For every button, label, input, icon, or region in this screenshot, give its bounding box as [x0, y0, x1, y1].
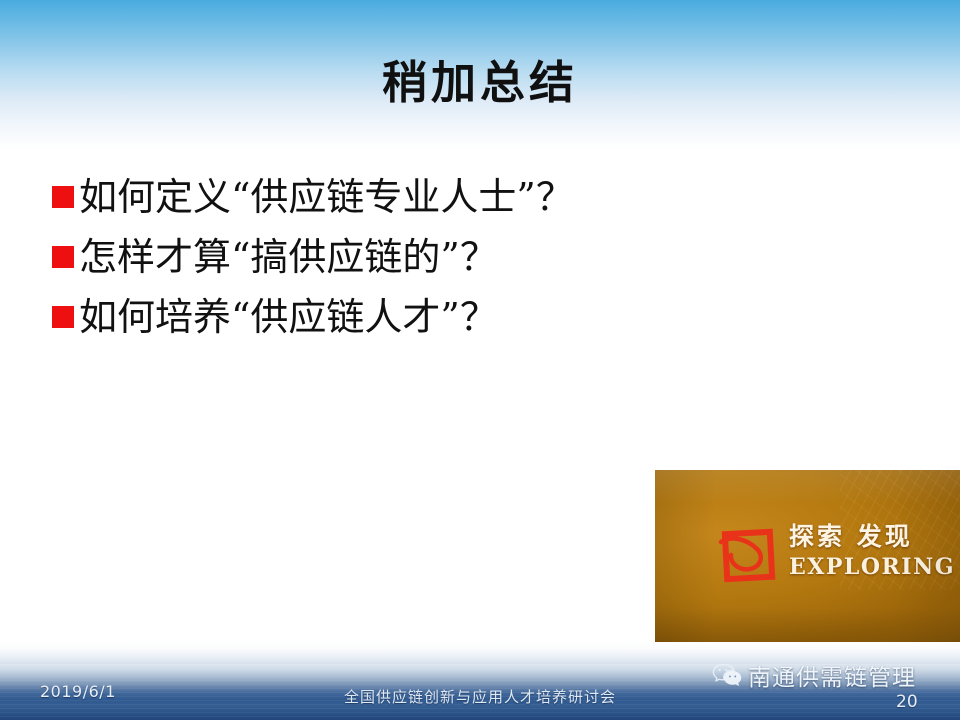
bullet-text: 怎样才算“搞供应链的”？: [79, 232, 498, 282]
logo-chinese-text: 探索 发现: [789, 522, 949, 552]
red-square-dipper-icon: [717, 524, 779, 586]
list-item: 怎样才算“搞供应链的”？: [52, 232, 812, 292]
list-item: 如何定义“供应链专业人士”？: [52, 172, 812, 232]
bullet-text: 如何定义“供应链专业人士”？: [79, 172, 574, 222]
presentation-slide: 稍加总结 如何定义“供应链专业人士”？ 怎样才算“搞供应链的”？ 如何培养“供应…: [0, 0, 960, 720]
page-number: 20: [896, 692, 936, 712]
exploring-logo-text: 探索 发现 EXPLORING: [789, 522, 949, 580]
exploring-logo: 探索 发现 EXPLORING: [717, 522, 947, 602]
logo-english-text: EXPLORING: [789, 554, 949, 580]
red-square-bullet-icon: [52, 306, 74, 328]
red-square-bullet-icon: [52, 186, 74, 208]
page-title: 稍加总结: [0, 58, 960, 108]
bullet-text: 如何培养“供应链人才”？: [79, 292, 498, 342]
bullet-list: 如何定义“供应链专业人士”？ 怎样才算“搞供应链的”？ 如何培养“供应链人才”？: [52, 172, 812, 352]
list-item: 如何培养“供应链人才”？: [52, 292, 812, 352]
exploring-program-image: 探索 发现 EXPLORING: [655, 470, 960, 656]
wechat-account-name: 南通供需链管理: [748, 658, 916, 692]
wechat-account-badge: 南通供需链管理: [712, 658, 916, 692]
wechat-icon: [712, 662, 742, 688]
red-square-bullet-icon: [52, 246, 74, 268]
